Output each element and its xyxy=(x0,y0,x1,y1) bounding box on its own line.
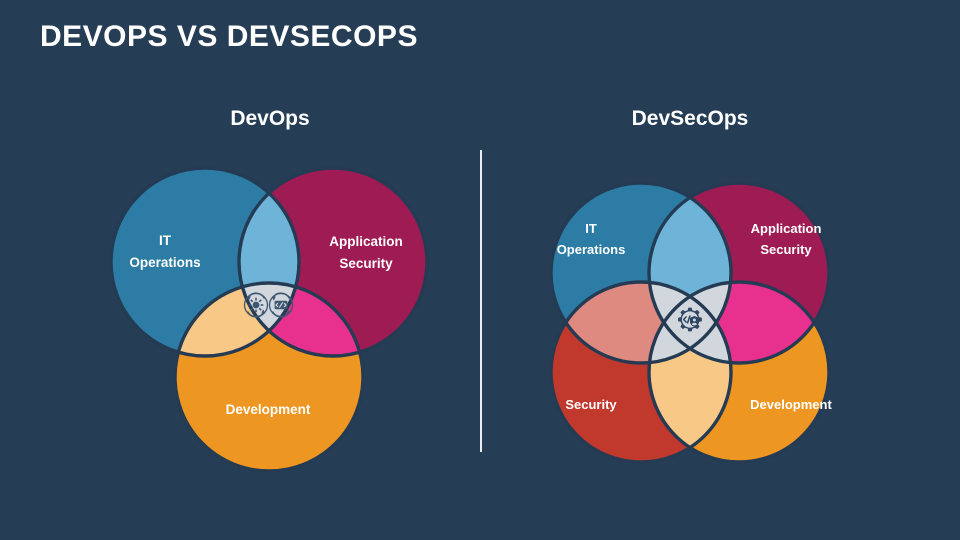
venn-label-development: Development xyxy=(750,397,832,412)
gear-security-icon xyxy=(678,308,702,332)
venn-label-it-operations-line2: Operations xyxy=(557,242,626,257)
venn-label-application-security-line2: Security xyxy=(760,242,812,257)
venn-diagram-devsecops: IT Operations Application Security Secur… xyxy=(0,0,960,540)
venn-label-application-security-line1: Application xyxy=(751,221,822,236)
slide-canvas: DEVOPS VS DEVSECOPS DevOps DevSecOps xyxy=(0,0,960,540)
venn-label-security: Security xyxy=(565,397,617,412)
venn-label-it-operations-line1: IT xyxy=(585,221,597,236)
